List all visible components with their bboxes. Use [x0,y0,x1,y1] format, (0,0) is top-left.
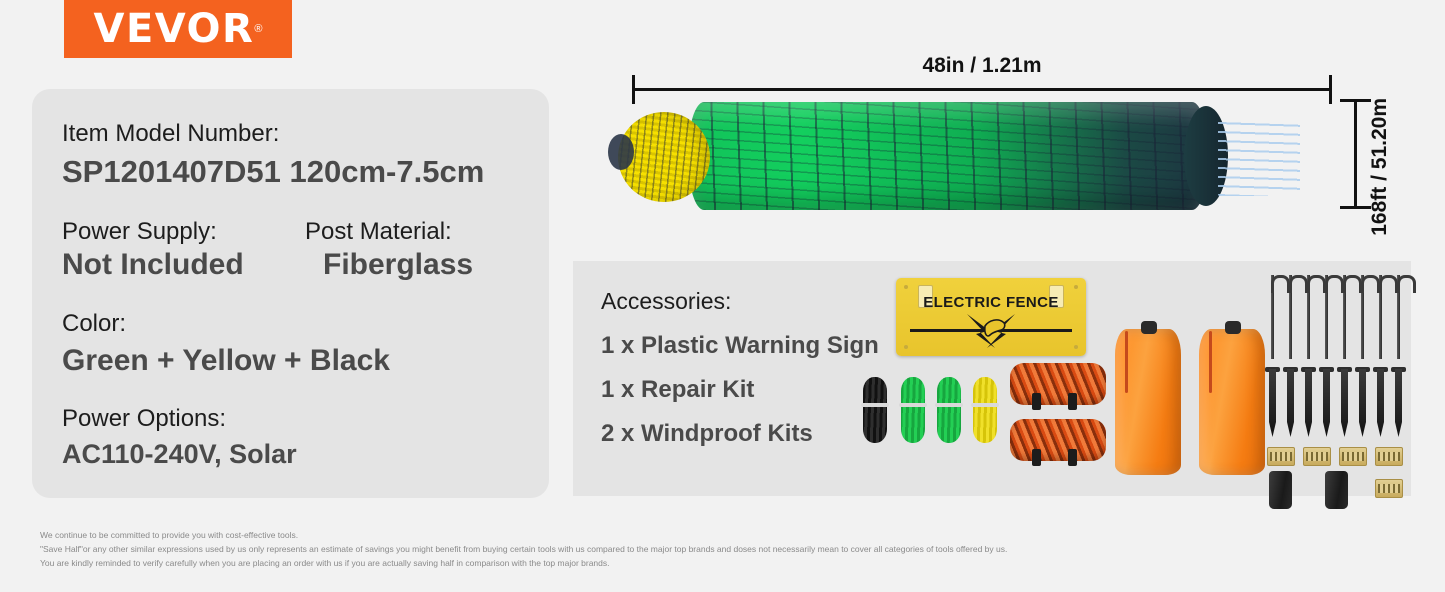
windproof-kit-ropes [1010,363,1110,473]
bag-drawstring [1209,331,1212,393]
ground-peg [1305,369,1312,437]
accessory-item: 2 x Windproof Kits [601,420,901,448]
netting-roll-image [618,100,1298,212]
ground-peg [1359,369,1366,437]
model-number-value: SP1201407D51 120cm-7.5cm [62,153,549,191]
height-dimension-label: 168ft / 51.20m [1368,98,1392,236]
bag-cord-toggle [1141,321,1157,334]
accessory-item: 1 x Repair Kit [601,376,901,404]
ground-peg [1269,369,1276,437]
height-dimension-cap-bottom [1340,206,1371,209]
power-supply-value: Not Included [62,247,305,284]
terminal-connector [1267,447,1295,466]
accessories-text-block: Accessories: 1 x Plastic Warning Sign 1 … [601,288,901,464]
power-supply-label: Power Supply: [62,217,305,247]
hand-lightning-icon [965,312,1017,350]
j-hook-curve [1361,275,1380,293]
repair-kit-cords [863,369,998,459]
post-material-label: Post Material: [305,217,535,247]
power-options-label: Power Options: [62,404,549,434]
width-dimension-line [632,88,1332,91]
cord-bundle-yellow [973,377,997,443]
height-dimension: 168ft / 51.20m [1338,94,1428,254]
sign-screw-hole [904,345,908,349]
stakes-and-connectors [1263,275,1409,485]
j-hook-curve [1271,275,1290,293]
power-supply-group: Power Supply: Not Included [62,217,305,284]
terminal-connector [1339,447,1367,466]
bag-drawstring [1125,331,1128,393]
ground-peg [1323,369,1330,437]
cord-bundle-green [937,377,961,443]
disclaimer-block: We continue to be committed to provide y… [40,529,1400,570]
width-dimension-label: 48in / 1.21m [632,54,1332,78]
product-infographic: VEVOR® Item Model Number: SP1201407D51 1… [0,0,1445,592]
post-material-value: Fiberglass [305,247,535,284]
netting-roll-green-body [688,102,1208,210]
cord-tie [861,403,889,407]
cord-tie [935,403,963,407]
power-options-value: AC110-240V, Solar [62,438,549,471]
color-value: Green + Yellow + Black [62,343,549,380]
disclaimer-line: "Save Half"or any other similar expressi… [40,543,1400,557]
orange-storage-bags [1113,301,1273,481]
bag-cord-toggle [1225,321,1241,334]
disclaimer-line: We continue to be committed to provide y… [40,529,1400,543]
rope-clip [1068,449,1077,466]
ground-peg [1341,369,1348,437]
width-dimension-cap-right [1329,75,1332,104]
terminal-connector [1375,479,1403,498]
j-hook-curve [1343,275,1362,293]
rope-clip [1032,393,1041,410]
post-material-group: Post Material: Fiberglass [305,217,535,284]
registered-trademark-icon: ® [254,23,262,35]
netting-roll-tip [608,134,634,170]
insulator [1325,471,1348,509]
j-hook-curve [1325,275,1344,293]
rope-clip [1068,393,1077,410]
electric-fence-warning-sign: ELECTRIC FENCE [896,278,1086,356]
cord-tie [899,403,927,407]
sign-screw-hole [904,285,908,289]
product-dimension-area: 48in / 1.21m 168ft / 51.20m [570,36,1430,251]
ground-peg [1395,369,1402,437]
fiberglass-posts [1218,118,1300,196]
rope-coil [1010,419,1106,461]
cord-bundle-black [863,377,887,443]
rope-clip [1032,449,1041,466]
height-dimension-line [1354,99,1357,209]
insulator [1269,471,1292,509]
accessories-heading: Accessories: [601,288,901,315]
cord-tie [971,403,999,407]
ground-peg [1377,369,1384,437]
specifications-panel: Item Model Number: SP1201407D51 120cm-7.… [32,89,549,498]
sign-screw-hole [1074,345,1078,349]
ground-peg [1287,369,1294,437]
vevor-logo-badge: VEVOR® [64,0,292,58]
j-hook-curve [1289,275,1308,293]
power-supply-post-material-row: Power Supply: Not Included Post Material… [62,217,549,284]
accessories-panel: Accessories: 1 x Plastic Warning Sign 1 … [573,261,1411,496]
model-number-label: Item Model Number: [62,119,549,149]
terminal-connector [1375,447,1403,466]
accessory-item: 1 x Plastic Warning Sign [601,332,901,360]
sign-screw-hole [1074,285,1078,289]
terminal-connector [1303,447,1331,466]
warning-sign-text: ELECTRIC FENCE [896,294,1086,311]
j-hook-curve [1397,275,1416,293]
height-dimension-cap-top [1340,99,1371,102]
disclaimer-line: You are kindly reminded to verify carefu… [40,557,1400,571]
vevor-wordmark: VEVOR [94,9,255,49]
j-hook-curve [1307,275,1326,293]
j-hook-curve [1379,275,1398,293]
color-label: Color: [62,309,549,339]
cord-bundle-green [901,377,925,443]
rope-coil [1010,363,1106,405]
width-dimension: 48in / 1.21m [632,54,1332,102]
